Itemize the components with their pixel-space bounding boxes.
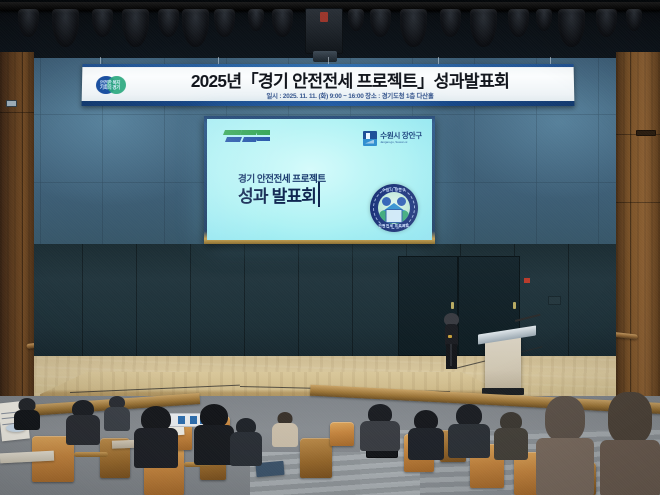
- banner-top-stripe: [82, 64, 573, 67]
- audience-member: [14, 398, 40, 428]
- stage-light: [508, 9, 529, 37]
- stage-light: [440, 9, 461, 37]
- audience-member: [66, 400, 100, 444]
- stage-light: [18, 9, 39, 37]
- seat-armrest: [74, 452, 108, 457]
- stage-light: [122, 9, 149, 47]
- stage-light: [348, 9, 364, 31]
- projection-screen: 수원시 장안구 Jangan-gu, Suwon-si 경기 안전전세 프로젝트…: [207, 119, 432, 240]
- auditorium-seat[interactable]: [300, 438, 332, 478]
- lectern: [485, 336, 521, 393]
- stage-light: [596, 9, 617, 37]
- stage-light: [626, 9, 642, 31]
- presenter: [442, 313, 461, 369]
- audience-member: [600, 392, 660, 495]
- audience-member: [408, 410, 444, 458]
- auditorium-photo: 안전한 복지 기회의 경기 2025년「경기 안전전세 프로젝트」성과발표회 일…: [0, 0, 660, 495]
- wood-wall-plate-left: [6, 100, 17, 107]
- suwon-mark-icon: [363, 131, 377, 146]
- stage-light: [92, 9, 113, 37]
- presenter-legs: [446, 344, 457, 369]
- audience-member: [360, 404, 400, 448]
- emblem-top-text: 수원시 장안구: [382, 188, 406, 193]
- stage-light: [536, 9, 552, 31]
- banner-cloth: 안전한 복지 기회의 경기 2025년「경기 안전전세 프로젝트」성과발표회 일…: [82, 64, 575, 106]
- stage-light: [370, 9, 391, 37]
- ceiling-projector: [305, 8, 343, 54]
- gyeonggi-emblem-icon: 안전한 복지 기회의 경기: [96, 75, 127, 95]
- auditorium-ceiling: [0, 0, 660, 58]
- stage-light: [400, 9, 427, 47]
- audience-member: [230, 418, 262, 466]
- banner-logo-label: 안전한 복지 기회의 경기: [99, 80, 121, 91]
- stage-light: [182, 9, 209, 47]
- backdrop-plate: [548, 296, 561, 305]
- audience-member: [494, 412, 528, 458]
- banner-subtitle: 일시 : 2025. 11. 11. (화) 9:00 ~ 16:00 장소 :…: [134, 91, 567, 102]
- stage-light: [214, 9, 235, 37]
- audience-member: [536, 396, 594, 495]
- slide-title: 성과 발표회: [238, 182, 320, 207]
- projection-screen-frame: 수원시 장안구 Jangan-gu, Suwon-si 경기 안전전세 프로젝트…: [204, 116, 435, 244]
- event-banner: 안전한 복지 기회의 경기 2025년「경기 안전전세 프로젝트」성과발표회 일…: [78, 57, 578, 111]
- audience-member: [194, 404, 234, 462]
- audience-member: [104, 396, 130, 430]
- audience-member: [448, 404, 490, 456]
- stage-light: [272, 9, 293, 37]
- banner-title: 2025년「경기 안전전세 프로젝트」성과발표회: [134, 70, 566, 92]
- side-wall-wood-right: [616, 52, 660, 402]
- emblem-bottom-text: 안전전세 프로젝트: [378, 224, 409, 229]
- stage-light: [470, 9, 497, 47]
- stage-light: [52, 9, 79, 47]
- stage-light: [558, 9, 585, 47]
- gyeonggi-do-logo-icon: [224, 130, 270, 147]
- audience-member: [272, 412, 298, 446]
- suwon-logo-english: Jangan-gu, Suwon-si: [380, 141, 422, 144]
- stage-backdrop: [34, 244, 616, 362]
- safe-jeonse-emblem-icon: 수원시 장안구 안전전세 프로젝트: [370, 184, 418, 232]
- suwon-logo-korean: 수원시 장안구: [380, 132, 422, 140]
- suwon-jangan-logo: 수원시 장안구 Jangan-gu, Suwon-si: [363, 129, 422, 147]
- projector-lamp-icon: [320, 12, 328, 22]
- wood-wall-slot-right: [636, 130, 656, 136]
- auditorium-seat[interactable]: [330, 422, 354, 446]
- backdrop-indicator-light: [524, 278, 530, 283]
- stage-light: [158, 9, 179, 37]
- presenter-badge: [448, 335, 452, 338]
- stage-light: [248, 9, 264, 31]
- audience-member: [134, 406, 178, 466]
